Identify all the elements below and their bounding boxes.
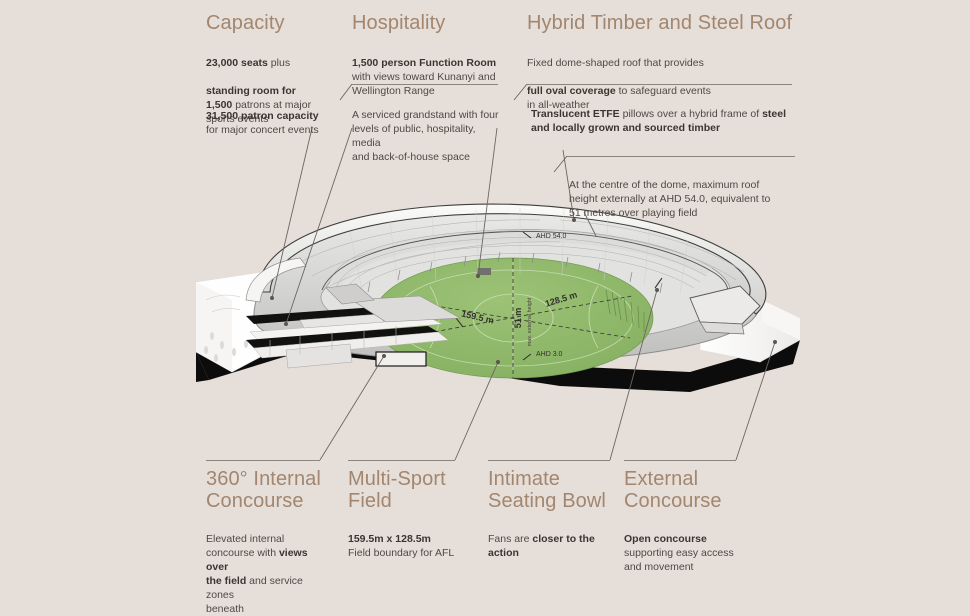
section-capacity: Capacity bbox=[206, 12, 332, 34]
label-height: 51 m bbox=[513, 308, 523, 329]
east-podium bbox=[700, 300, 800, 362]
playing-field bbox=[373, 258, 662, 378]
multi-sport-field-rule bbox=[348, 460, 455, 461]
label-ahd-top: AHD 54.0 bbox=[536, 233, 566, 240]
section-internal-concourse: 360° InternalConcourse bbox=[206, 468, 330, 512]
external-concourse-text: Open concoursesupporting easy accessand … bbox=[624, 518, 754, 574]
west-podium bbox=[196, 272, 300, 372]
section-hospitality: Hospitality bbox=[352, 12, 502, 34]
section-roof-heading: Hybrid Timber and Steel Roof bbox=[527, 12, 797, 34]
label-ahd-bottom: AHD 3.0 bbox=[536, 351, 563, 358]
section-intimate-seating-bowl-heading: IntimateSeating Bowl bbox=[488, 468, 618, 512]
section-external-concourse: ExternalConcourse bbox=[624, 468, 754, 512]
section-roof: Hybrid Timber and Steel Roof bbox=[527, 12, 797, 34]
internal-concourse-rule bbox=[206, 460, 320, 461]
intimate-seating-bowl-rule bbox=[488, 460, 610, 461]
section-intimate-seating-bowl: IntimateSeating Bowl bbox=[488, 468, 618, 512]
section-capacity-heading: Capacity bbox=[206, 12, 332, 34]
section-internal-concourse-heading: 360° InternalConcourse bbox=[206, 468, 330, 512]
capacity-concert-text: 31,500 patron capacityfor major concert … bbox=[206, 95, 330, 137]
internal-concourse-text: Elevated internalconcourse with views ov… bbox=[206, 518, 332, 616]
ground-shadow bbox=[196, 330, 800, 392]
hospitality-rule bbox=[352, 84, 498, 85]
external-concourse-rule bbox=[624, 460, 736, 461]
multi-sport-field-text: 159.5m x 128.5mField boundary for AFL bbox=[348, 518, 478, 560]
field-markers bbox=[456, 278, 662, 327]
west-cutaway-structure bbox=[246, 258, 460, 368]
roof-etfe-rule bbox=[527, 84, 792, 85]
leader-lines bbox=[270, 84, 777, 460]
label-height-note: max. external height bbox=[527, 297, 533, 346]
section-external-concourse-heading: ExternalConcourse bbox=[624, 468, 754, 512]
label-length: 159.5 m bbox=[460, 308, 494, 325]
diagram-dimension-labels: AHD 54.0 AHD 3.0 51 m max. external heig… bbox=[460, 232, 578, 360]
hospitality-function-room-text: 1,500 person Function Roomwith views tow… bbox=[352, 42, 502, 98]
roof-height-rule bbox=[567, 156, 795, 157]
dimension-lines bbox=[400, 258, 632, 378]
hospitality-grandstand-text: A serviced grandstand with fourlevels of… bbox=[352, 94, 504, 164]
goal-posts bbox=[606, 290, 644, 332]
section-multi-sport-field: Multi-SportField bbox=[348, 468, 468, 512]
stadium-bowl bbox=[254, 212, 761, 363]
stadium-roof bbox=[258, 204, 766, 334]
intimate-seating-bowl-text: Fans are closer to theaction bbox=[488, 518, 612, 560]
section-multi-sport-field-heading: Multi-SportField bbox=[348, 468, 468, 512]
roof-etfe-text: Translucent ETFE pillows over a hybrid f… bbox=[531, 93, 799, 135]
label-width: 128.5 m bbox=[544, 290, 579, 309]
infographic-canvas: AHD 54.0 AHD 3.0 51 m max. external heig… bbox=[0, 0, 970, 582]
roof-height-text: At the centre of the dome, maximum roofh… bbox=[569, 164, 799, 220]
section-hospitality-heading: Hospitality bbox=[352, 12, 502, 34]
seating-tiers bbox=[330, 229, 712, 300]
